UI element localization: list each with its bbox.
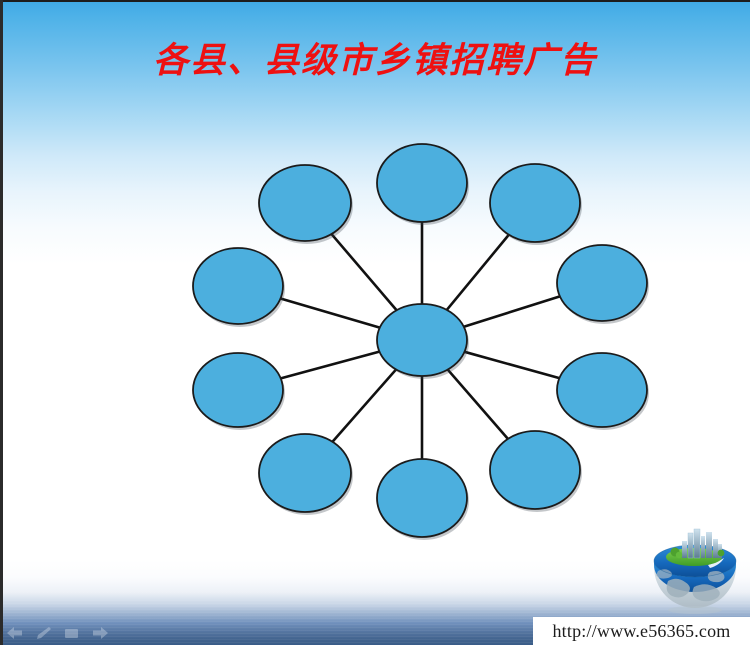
slide-top-border	[0, 0, 750, 2]
diagram-node-7[interactable]	[557, 353, 647, 427]
website-url: http://www.e56365.com	[552, 621, 730, 642]
pen-icon[interactable]	[36, 626, 52, 640]
radial-diagram	[150, 118, 620, 558]
forward-arrow-icon[interactable]	[91, 626, 109, 640]
back-arrow-icon[interactable]	[6, 626, 24, 640]
diagram-hub-node[interactable]	[377, 304, 467, 376]
spoke-line-9	[448, 370, 508, 439]
diagram-node-9[interactable]	[490, 431, 580, 509]
diagram-node-2[interactable]	[259, 165, 351, 241]
spoke-line-6	[281, 352, 380, 379]
diagram-hub-node	[377, 304, 469, 379]
diagram-node-4[interactable]	[193, 248, 283, 324]
spoke-line-7	[465, 352, 560, 378]
city-skyline	[682, 529, 722, 558]
spoke-line-3	[447, 235, 509, 310]
diagram-node-10[interactable]	[377, 459, 467, 537]
spoke-line-5	[464, 296, 560, 326]
diagram-node-3[interactable]	[490, 164, 580, 242]
slide-canvas: 各县、县级市乡镇招聘广告	[0, 0, 750, 645]
footer-nav-icons	[6, 622, 126, 644]
stop-square-icon[interactable]	[64, 627, 79, 640]
diagram-node-5[interactable]	[557, 245, 647, 321]
spoke-line-2	[332, 234, 397, 310]
website-url-plate: http://www.e56365.com	[533, 617, 750, 645]
spoke-line-4	[281, 298, 380, 327]
diagram-node-6[interactable]	[193, 353, 283, 427]
diagram-node-1[interactable]	[377, 144, 467, 222]
earth-city-globe-logo	[648, 527, 742, 615]
diagram-node-8[interactable]	[259, 434, 351, 512]
globe-shadow	[668, 606, 722, 614]
page-title: 各县、县级市乡镇招聘广告	[0, 41, 750, 81]
slide-left-border	[0, 0, 3, 645]
spoke-line-8	[333, 369, 397, 441]
